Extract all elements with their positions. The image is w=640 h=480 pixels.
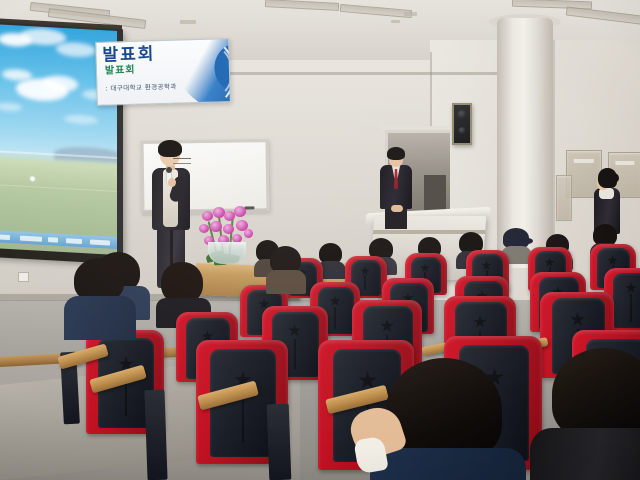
woman-hair xyxy=(598,168,617,188)
wall-speaker-icon xyxy=(452,103,472,145)
suited-man-torso xyxy=(380,165,412,209)
audience-member xyxy=(270,246,304,290)
power-outlet xyxy=(18,272,29,282)
presenter-hair xyxy=(158,140,182,157)
lecture-hall-photo: 발표회 발표회 : 대구대학교 환경공학과 xyxy=(0,0,640,480)
banner-title: 발표회 xyxy=(102,46,155,64)
slide-taskbar xyxy=(0,230,117,249)
eyeglasses-icon xyxy=(173,158,191,164)
seat-standard xyxy=(267,404,292,480)
seat-standard xyxy=(144,390,167,480)
banner-subtitle: 발표회 xyxy=(105,66,136,77)
slide-highlight-dot xyxy=(30,176,35,181)
suited-man-hair xyxy=(387,147,405,160)
ceiling-vent xyxy=(180,20,196,24)
orchid-pot xyxy=(208,242,246,264)
ceiling-vent xyxy=(404,12,417,16)
audience-member-foreground xyxy=(552,348,640,480)
banner-organization: : 대구대학교 환경공학과 xyxy=(105,81,177,93)
slide-field-line xyxy=(0,184,117,192)
banner-swoosh-graphic xyxy=(170,38,231,106)
presenter-hand xyxy=(168,178,176,187)
audience-member xyxy=(74,258,130,336)
audience-member-foreground xyxy=(386,358,506,480)
suited-man-hands xyxy=(391,205,403,212)
ceiling-smoke-detector xyxy=(391,20,400,23)
woman-hair-bun xyxy=(609,173,619,183)
person-suited-man xyxy=(378,147,414,225)
wall-notice-panel xyxy=(556,175,572,221)
event-banner: 발표회 발표회 : 대구대학교 환경공학과 xyxy=(95,38,231,106)
